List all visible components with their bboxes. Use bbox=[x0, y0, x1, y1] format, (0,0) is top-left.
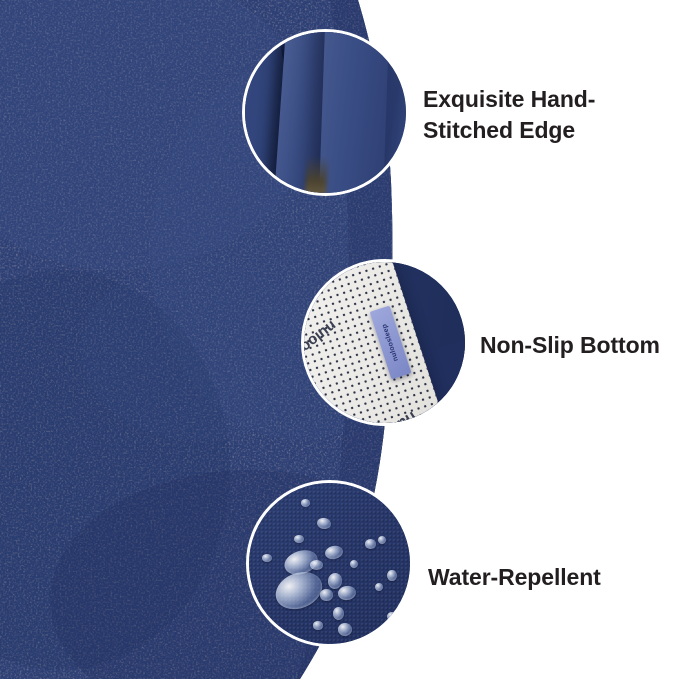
water-droplet bbox=[378, 536, 386, 544]
water-droplet bbox=[316, 517, 332, 531]
water-droplet bbox=[387, 612, 397, 622]
water-droplet bbox=[387, 570, 397, 581]
callout-hand-stitched-edge bbox=[242, 29, 409, 196]
feature-label-hand-stitched-edge: Exquisite Hand- Stitched Edge bbox=[423, 84, 595, 145]
callout-3-photo bbox=[249, 483, 410, 644]
water-droplet bbox=[337, 585, 357, 602]
callout-2-photo: nuloosleep nuloosleep nuloosleep bbox=[304, 262, 465, 423]
callout-water-repellent bbox=[246, 480, 413, 647]
feature-label-line-1: Non-Slip Bottom bbox=[480, 330, 660, 361]
water-droplet bbox=[375, 583, 383, 591]
fold-crevice bbox=[305, 155, 329, 196]
callout-1-photo bbox=[245, 32, 406, 193]
water-droplet bbox=[365, 539, 376, 549]
water-droplet bbox=[320, 589, 333, 600]
callout-non-slip-bottom: nuloosleep nuloosleep nuloosleep bbox=[301, 259, 468, 426]
feature-label-line-1: Exquisite Hand- bbox=[423, 84, 595, 115]
feature-label-line-2: Stitched Edge bbox=[423, 115, 595, 146]
water-droplet bbox=[262, 554, 272, 562]
water-droplet bbox=[301, 499, 311, 507]
brand-text-upper: nuloosleep bbox=[301, 317, 339, 379]
water-droplet bbox=[350, 560, 358, 568]
water-droplet bbox=[294, 535, 304, 543]
product-infographic: Exquisite Hand- Stitched Edge nuloosleep… bbox=[0, 0, 679, 679]
stitched-fold-right bbox=[319, 29, 390, 196]
feature-label-non-slip-bottom: Non-Slip Bottom bbox=[480, 330, 660, 361]
water-droplet bbox=[338, 623, 352, 636]
water-droplet bbox=[310, 560, 323, 570]
feature-label-water-repellent: Water-Repellent bbox=[428, 562, 601, 593]
brand-care-tag-text: nuloosleep bbox=[381, 323, 400, 362]
feature-label-line-1: Water-Repellent bbox=[428, 562, 601, 593]
water-droplet bbox=[270, 565, 328, 616]
water-droplet bbox=[324, 544, 344, 560]
water-droplet-layer bbox=[249, 483, 410, 644]
water-droplet bbox=[313, 621, 323, 629]
water-droplet bbox=[333, 607, 344, 620]
